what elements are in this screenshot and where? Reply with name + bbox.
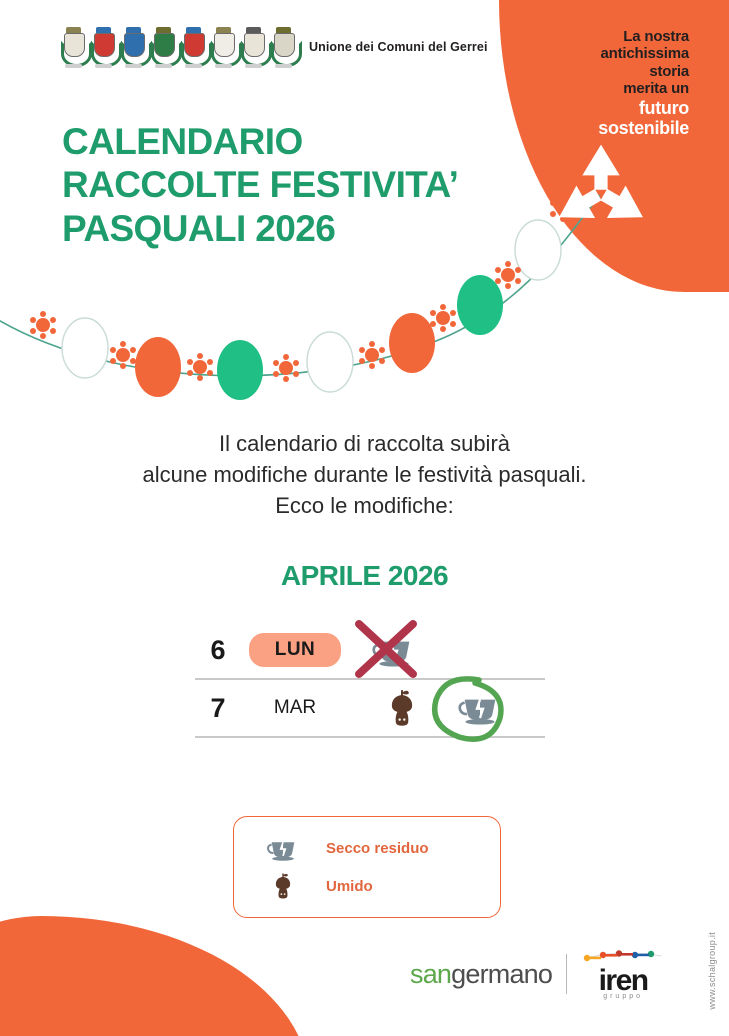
title-line-1: CALENDARIO <box>62 120 458 163</box>
coat-of-arms-icon <box>210 26 237 68</box>
header: Unione dei Comuni del Gerrei <box>60 26 488 68</box>
secco-residuo-icon <box>363 630 425 670</box>
intro-text: Il calendario di raccolta subirà alcune … <box>0 428 729 522</box>
slogan-line-6: sostenibile <box>519 118 689 139</box>
intro-line-3: Ecco le modifiche: <box>0 490 729 521</box>
secco-residuo-icon <box>449 688 511 728</box>
orange-blob-bottom-left <box>0 916 310 1036</box>
table-row: 6 LUN <box>195 622 545 678</box>
sangermano-logo-suffix: germano <box>451 959 552 989</box>
coat-of-arms-icon <box>270 26 297 68</box>
legend-box: Secco residuo Umido <box>233 816 501 918</box>
website-url: www.schalgroup.it <box>707 932 717 1010</box>
legend-label: Secco residuo <box>326 840 429 857</box>
sustainability-slogan: La nostra antichissima storia merita un … <box>519 28 689 139</box>
weekday-badge: LUN <box>249 633 341 667</box>
umido-icon <box>260 871 306 901</box>
page-title: CALENDARIO RACCOLTE FESTIVITA’ PASQUALI … <box>62 120 458 250</box>
list-item: Secco residuo <box>234 829 500 867</box>
coat-of-arms-icon <box>240 26 267 68</box>
month-heading: APRILE 2026 <box>0 560 729 592</box>
coat-of-arms-icon <box>120 26 147 68</box>
intro-line-1: Il calendario di raccolta subirà <box>0 428 729 459</box>
table-row: 7 MAR <box>195 678 545 738</box>
iren-wordmark: iren <box>581 967 665 996</box>
sangermano-logo: sangermano <box>410 959 552 990</box>
slogan-line-2: antichissima <box>519 45 689 62</box>
secco-residuo-icon <box>260 834 306 863</box>
intro-line-2: alcune modifiche durante le festività pa… <box>0 459 729 490</box>
slogan-line-3: storia <box>519 63 689 80</box>
coat-of-arms-icon <box>180 26 207 68</box>
recycle-icon <box>541 138 661 248</box>
iren-tagline: gruppo <box>581 993 665 1000</box>
logo-divider <box>566 954 567 994</box>
umido-icon <box>371 687 433 729</box>
crest-row <box>60 26 297 68</box>
day-number: 6 <box>195 635 241 666</box>
title-line-3: PASQUALI 2026 <box>62 207 458 250</box>
coat-of-arms-icon <box>60 26 87 68</box>
title-line-2: RACCOLTE FESTIVITA’ <box>62 163 458 206</box>
organization-name: Unione dei Comuni del Gerrei <box>309 40 488 54</box>
footer-logos: sangermano iren gruppo <box>410 949 665 1001</box>
iren-logo: iren gruppo <box>581 949 665 1001</box>
sangermano-logo-prefix: san <box>410 959 451 989</box>
slogan-line-5: futuro <box>519 98 689 119</box>
coat-of-arms-icon <box>150 26 177 68</box>
schedule-table: 6 LUN 7 MAR <box>195 622 545 738</box>
poster-canvas: Unione dei Comuni del Gerrei La nostra a… <box>0 0 729 1036</box>
iren-dots-icon <box>581 950 665 962</box>
slogan-line-4: merita un <box>519 80 689 97</box>
slogan-line-1: La nostra <box>519 28 689 45</box>
coat-of-arms-icon <box>90 26 117 68</box>
list-item: Umido <box>234 867 500 905</box>
legend-label: Umido <box>326 878 373 895</box>
weekday-label: MAR <box>241 697 349 719</box>
day-number: 7 <box>195 693 241 724</box>
